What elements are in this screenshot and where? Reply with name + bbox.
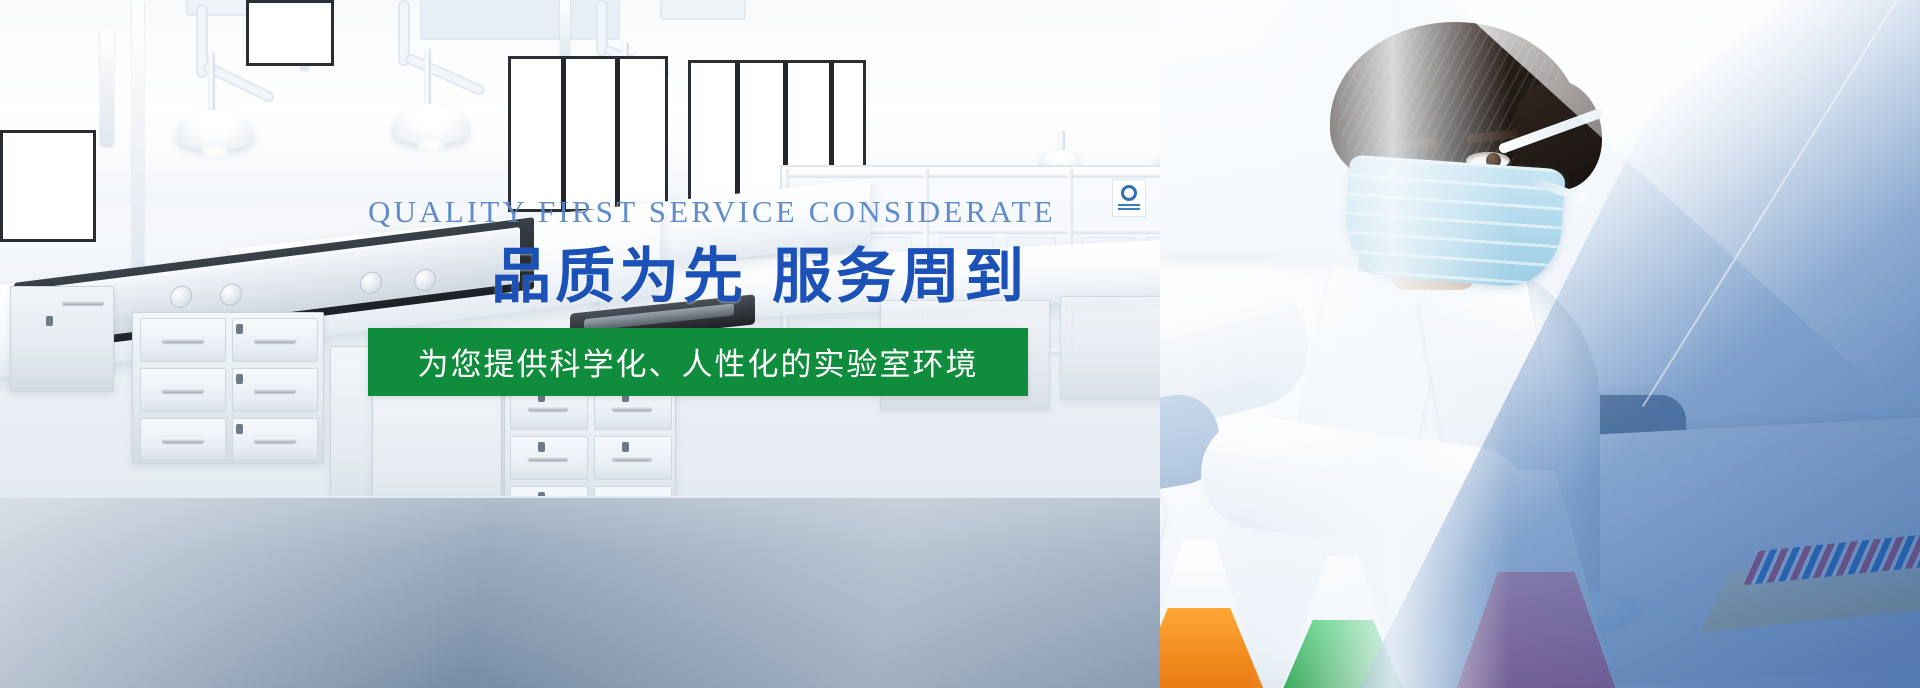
window: [246, 0, 334, 66]
face-mask: [1342, 155, 1566, 290]
drawer-handle: [254, 438, 296, 443]
lamp-stem: [208, 52, 215, 114]
headline-chinese: 品质为先 服务周到: [368, 245, 1028, 310]
ceiling-panel: [660, 0, 746, 20]
bench-socket: [170, 284, 192, 309]
cabinet-lock-icon: [46, 316, 53, 326]
hero-banner: QUALITY FIRST SERVICE CONSIDERATE 品质为先 服…: [0, 0, 1920, 688]
subtitle-green-bar: 为您提供科学化、人性化的实验室环境: [368, 328, 1028, 396]
ceiling-vent-panel: [420, 0, 620, 40]
ceiling-rail: [560, 0, 570, 60]
window: [0, 130, 96, 242]
drawer-handle: [162, 338, 204, 343]
ceiling-rail: [100, 28, 114, 146]
tagline-english: QUALITY FIRST SERVICE CONSIDERATE: [368, 196, 1028, 227]
ceiling-column: [132, 0, 144, 286]
window: [508, 56, 668, 212]
drawer-handle: [162, 388, 204, 393]
drawer-lock-icon: [236, 374, 243, 384]
lamp-stem: [1058, 130, 1065, 152]
drawer-handle: [162, 438, 204, 443]
subtitle-chinese: 为您提供科学化、人性化的实验室环境: [418, 339, 979, 384]
drawer-handle: [528, 456, 568, 461]
cabinet-handle: [62, 300, 104, 305]
drawer-lock-icon: [236, 424, 243, 434]
drawer-handle: [254, 338, 296, 343]
drawer-handle: [612, 456, 652, 461]
bench-socket: [220, 282, 242, 307]
drawer-lock-icon: [236, 324, 243, 334]
certification-badge-icon: [1112, 179, 1146, 217]
drawer-handle: [254, 388, 296, 393]
lamp-stem: [424, 48, 431, 106]
scientist-photo: [1160, 0, 1920, 688]
banner-text-block: QUALITY FIRST SERVICE CONSIDERATE 品质为先 服…: [368, 196, 1028, 446]
